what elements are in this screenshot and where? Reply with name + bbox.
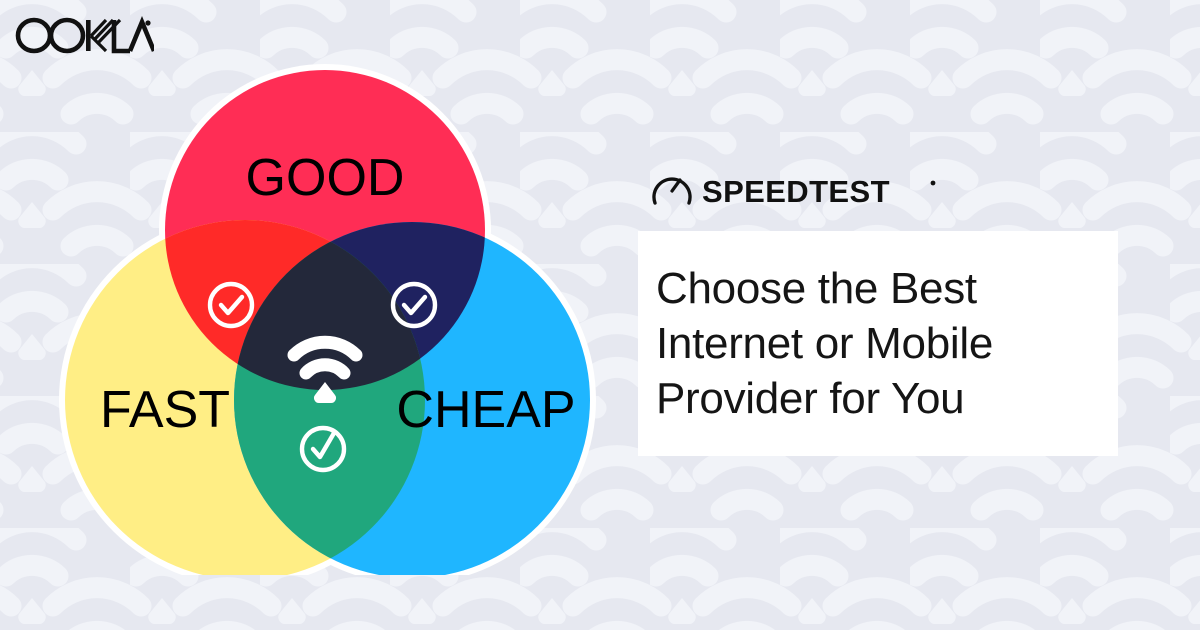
venn-label-good: GOOD (246, 149, 405, 207)
headline-line-2: Internet or Mobile (656, 316, 1090, 371)
ookla-k-stem (86, 20, 91, 51)
page-title: Choose the Best Internet or Mobile Provi… (656, 261, 1090, 426)
headline-card: Choose the Best Internet or Mobile Provi… (638, 231, 1118, 456)
right-content-column: SPEEDTEST Choose the Best Internet or Mo… (638, 168, 1118, 456)
speedtest-brand-lockup[interactable]: SPEEDTEST (638, 168, 1118, 212)
speedtest-text: SPEEDTEST (702, 174, 890, 209)
speedtest-promo-graphic: GOOD FAST CHEAP (0, 0, 1200, 630)
venn-label-fast: FAST (100, 381, 230, 439)
speedtest-wordmark: SPEEDTEST (652, 170, 942, 210)
ookla-logo[interactable] (14, 16, 154, 54)
registered-mark-icon (145, 20, 150, 25)
venn-label-cheap: CHEAP (396, 381, 575, 439)
headline-line-3: Provider for You (656, 371, 1090, 426)
ookla-letter-a (130, 22, 154, 51)
venn-diagram: GOOD FAST CHEAP (40, 55, 620, 575)
registered-mark-icon (931, 181, 936, 186)
headline-line-1: Choose the Best (656, 261, 1090, 316)
speedometer-icon (654, 179, 690, 203)
